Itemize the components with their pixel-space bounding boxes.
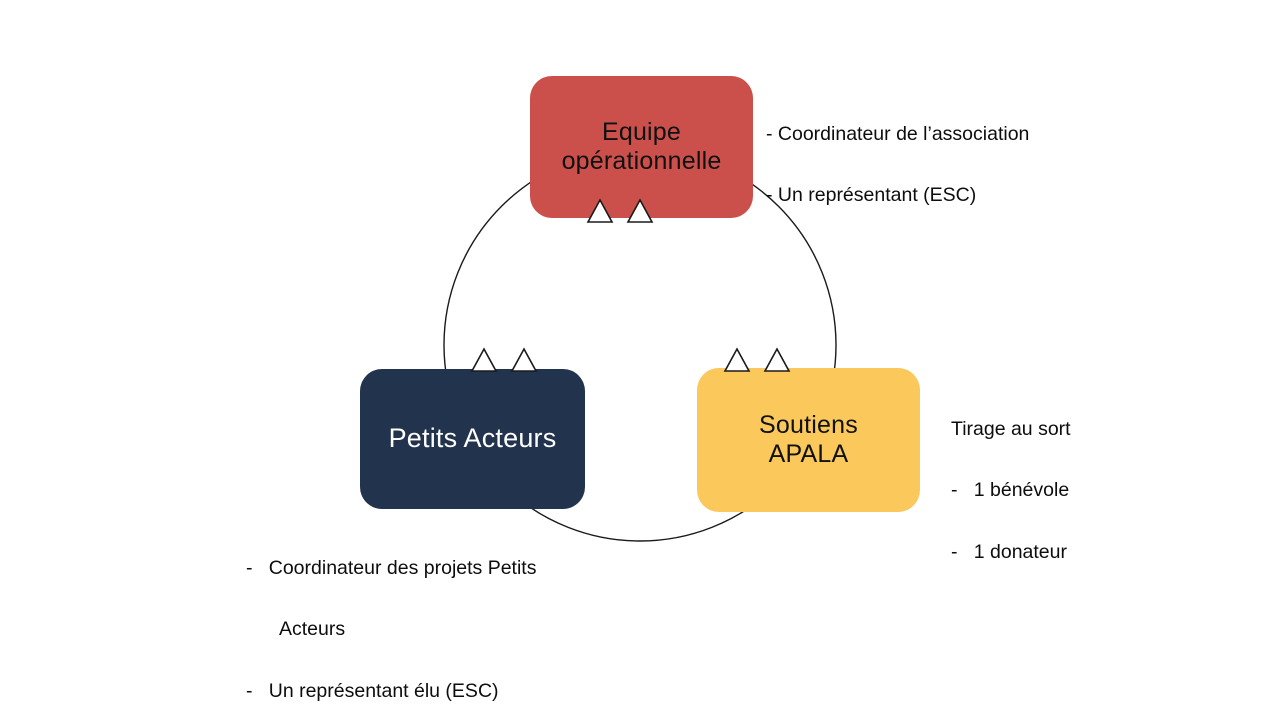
node-equipe-operationnelle-label: Equipe opérationnelle — [562, 118, 722, 176]
annotation-petits-item-2: - Un représentant élu (ESC) — [246, 676, 606, 707]
node-petits-acteurs-label: Petits Acteurs — [389, 423, 557, 454]
node-soutiens-apala-label: Soutiens APALA — [759, 411, 858, 469]
diagram-canvas: Equipe opérationnelle Petits Acteurs Sou… — [0, 0, 1280, 720]
annotation-petits-acteurs: - Coordinateur des projets Petits Acteur… — [246, 522, 606, 720]
annotation-equipe-line-2: - Un représentant (ESC) — [766, 180, 1096, 211]
node-equipe-operationnelle[interactable]: Equipe opérationnelle — [530, 76, 753, 218]
annotation-soutiens-heading: Tirage au sort — [951, 414, 1251, 445]
annotation-petits-item-1: - Coordinateur des projets Petits — [246, 553, 606, 584]
annotation-soutiens-item-1: - 1 bénévole — [951, 475, 1251, 506]
node-petits-acteurs[interactable]: Petits Acteurs — [360, 369, 585, 509]
annotation-soutiens-apala: Tirage au sort - 1 bénévole - 1 donateur — [951, 383, 1251, 599]
annotation-equipe-line-1: - Coordinateur de l’association — [766, 119, 1096, 150]
annotation-petits-item-1-continuation: Acteurs — [246, 614, 606, 645]
annotation-soutiens-item-2: - 1 donateur — [951, 537, 1251, 568]
annotation-equipe-operationnelle: - Coordinateur de l’association - Un rep… — [766, 88, 1096, 242]
node-soutiens-apala[interactable]: Soutiens APALA — [697, 368, 920, 512]
